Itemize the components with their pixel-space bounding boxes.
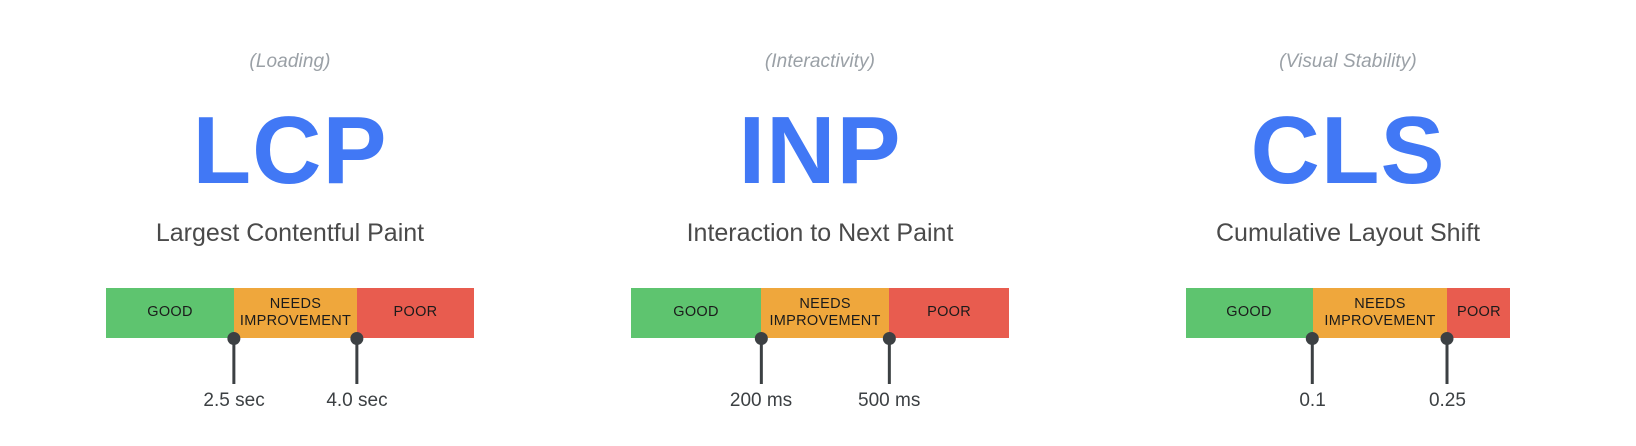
threshold-stem	[355, 344, 358, 384]
bar-segment-poor: POOR	[1447, 288, 1510, 338]
bar-segment-good: GOOD	[106, 288, 234, 338]
bar-segment-good-label: GOOD	[673, 304, 719, 321]
threshold-bar: GOOD NEEDSIMPROVEMENT POOR	[106, 288, 474, 338]
metric-category-label: (Interactivity)	[765, 52, 875, 71]
threshold-marker: 4.0 sec	[326, 338, 387, 410]
metric-full-name: Interaction to Next Paint	[687, 221, 954, 246]
metric-category-label: (Visual Stability)	[1279, 52, 1417, 71]
threshold-value-label: 200 ms	[730, 391, 792, 410]
bar-segment-needs-improvement-label: NEEDSIMPROVEMENT	[1324, 296, 1435, 330]
threshold-value-label: 500 ms	[858, 391, 920, 410]
threshold-bar-wrapper: GOOD NEEDSIMPROVEMENT POOR 200 ms 500 ms	[631, 288, 1009, 338]
threshold-stem	[888, 344, 891, 384]
metric-acronym: LCP	[193, 103, 388, 199]
metric-card-inp: (Interactivity) INP Interaction to Next …	[580, 0, 1060, 446]
bar-segment-needs-improvement: NEEDSIMPROVEMENT	[234, 288, 357, 338]
threshold-value-label: 0.1	[1299, 391, 1325, 410]
bar-segment-poor-label: POOR	[394, 304, 438, 321]
core-web-vitals-board: (Loading) LCP Largest Contentful Paint G…	[0, 0, 1636, 446]
threshold-marker: 0.1	[1299, 338, 1325, 410]
threshold-marker: 0.25	[1429, 338, 1466, 410]
bar-segment-poor-label: POOR	[927, 304, 971, 321]
bar-segment-good: GOOD	[631, 288, 761, 338]
threshold-stem	[760, 344, 763, 384]
bar-segment-needs-improvement: NEEDSIMPROVEMENT	[1313, 288, 1448, 338]
metric-acronym: CLS	[1251, 103, 1446, 199]
threshold-bar: GOOD NEEDSIMPROVEMENT POOR	[1186, 288, 1511, 338]
metric-category-label: (Loading)	[249, 52, 330, 71]
metric-full-name: Cumulative Layout Shift	[1216, 221, 1480, 246]
threshold-marker: 200 ms	[730, 338, 792, 410]
bar-segment-poor: POOR	[357, 288, 474, 338]
bar-segment-needs-improvement-label: NEEDSIMPROVEMENT	[769, 296, 880, 330]
bar-segment-poor: POOR	[889, 288, 1009, 338]
bar-segment-poor-label: POOR	[1457, 304, 1501, 321]
threshold-value-label: 2.5 sec	[203, 391, 264, 410]
threshold-marker: 500 ms	[858, 338, 920, 410]
bar-segment-needs-improvement-label: NEEDSIMPROVEMENT	[240, 296, 351, 330]
threshold-stem	[233, 344, 236, 384]
metric-card-cls: (Visual Stability) CLS Cumulative Layout…	[1060, 0, 1636, 446]
threshold-value-label: 0.25	[1429, 391, 1466, 410]
metric-card-lcp: (Loading) LCP Largest Contentful Paint G…	[0, 0, 580, 446]
threshold-bar-wrapper: GOOD NEEDSIMPROVEMENT POOR 0.1 0.25	[1186, 288, 1511, 338]
threshold-marker: 2.5 sec	[203, 338, 264, 410]
bar-segment-good-label: GOOD	[1226, 304, 1272, 321]
bar-segment-good: GOOD	[1186, 288, 1313, 338]
metric-full-name: Largest Contentful Paint	[156, 221, 424, 246]
threshold-bar-wrapper: GOOD NEEDSIMPROVEMENT POOR 2.5 sec 4.0 s…	[106, 288, 474, 338]
threshold-value-label: 4.0 sec	[326, 391, 387, 410]
bar-segment-needs-improvement: NEEDSIMPROVEMENT	[761, 288, 889, 338]
threshold-stem	[1446, 344, 1449, 384]
threshold-stem	[1311, 344, 1314, 384]
bar-segment-good-label: GOOD	[147, 304, 193, 321]
metric-acronym: INP	[738, 103, 901, 199]
threshold-bar: GOOD NEEDSIMPROVEMENT POOR	[631, 288, 1009, 338]
